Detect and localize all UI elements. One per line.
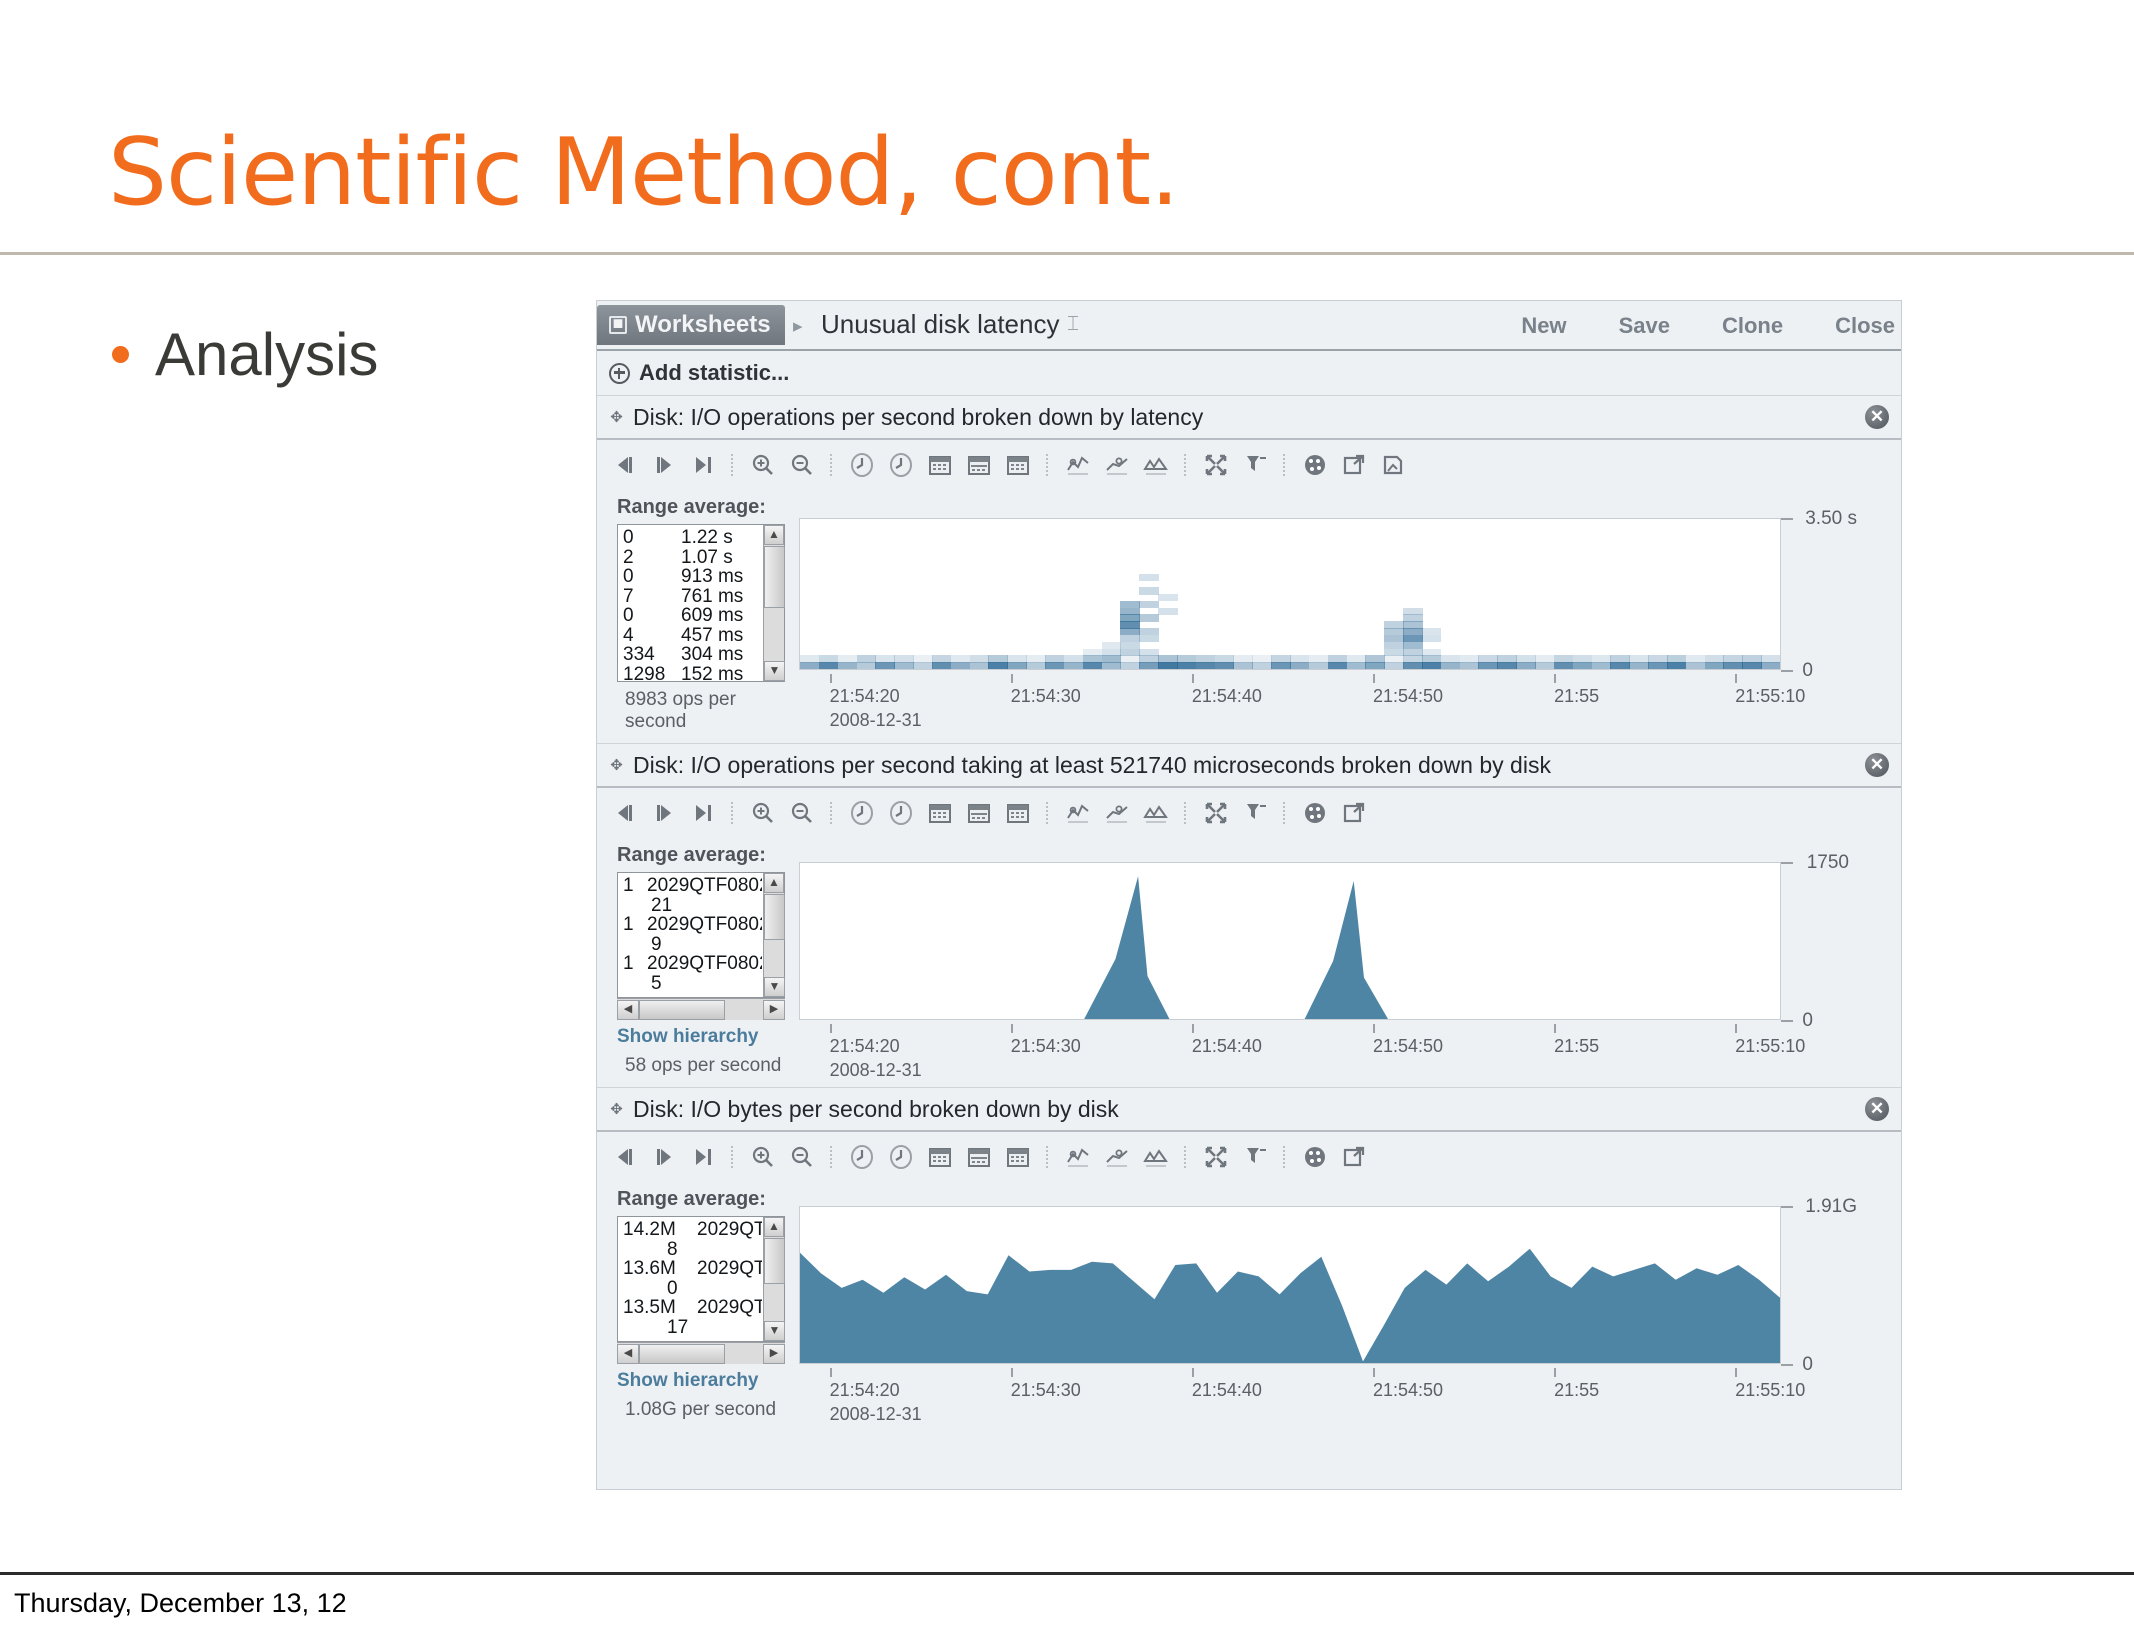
heatmap-cell [1761,655,1780,662]
vertical-scrollbar[interactable]: ▲ ▼ [763,873,784,997]
move-handle-icon[interactable]: ✥ [609,758,624,773]
area-plot[interactable] [799,862,1781,1020]
area-series [800,1207,1780,1363]
palette-icon[interactable] [1301,451,1329,479]
list-item: 01.22 s [623,528,762,548]
heatmap-cell [1460,655,1479,662]
scroll-thumb[interactable] [639,1344,725,1364]
toolbar-divider [731,1146,735,1168]
heatmap-cell [1403,662,1422,669]
x-tick-label: 21:54:50 [1373,686,1443,707]
x-tick [1011,1024,1013,1033]
legend-header: Range average: [617,844,787,867]
heatmap-cell [1139,655,1158,662]
clock-back-icon[interactable] [848,451,876,479]
heatmap-cell [1120,621,1139,628]
bullet-label: Analysis [155,320,378,389]
horizontal-scrollbar[interactable]: ◀ ▶ [617,998,785,1020]
x-tick [1373,674,1375,683]
list-item: 12029QTF0802QCX [623,915,762,935]
heatmap-cell [1384,662,1403,669]
heatmap-cell [1422,628,1441,635]
heatmap-cell [1177,662,1196,669]
heatmap-cell [1215,655,1234,662]
clock-forward-icon[interactable] [887,451,915,479]
heatmap-cell [1139,662,1158,669]
heatmap-cell [1120,608,1139,615]
vertical-scrollbar[interactable]: ▲ ▼ [763,1217,784,1341]
drill-down-icon[interactable] [1241,451,1269,479]
heatmap-cell [1478,662,1497,669]
heatmap-cell [1403,655,1422,662]
zoom-in-icon[interactable] [749,799,777,827]
zoom-out-icon[interactable] [788,451,816,479]
calendar-minute-icon[interactable] [926,451,954,479]
toolbar-divider [1283,454,1287,476]
y-tick-top [1781,1206,1793,1208]
toolbar-divider [830,454,834,476]
chart-area[interactable]: 3.50 s 0 21:54:2021:54:3021:54:4021:54:5… [787,496,1901,733]
scatter-chart-icon[interactable] [1103,1143,1131,1171]
scroll-up-icon[interactable]: ▲ [764,525,784,545]
calendar-day-icon[interactable] [1004,451,1032,479]
vertical-scrollbar[interactable]: ▲ ▼ [763,525,784,681]
heatmap-cell [894,662,913,669]
heatmap-cell [1139,587,1158,594]
palette-icon[interactable] [1301,1143,1329,1171]
heatmap-cell [970,662,989,669]
heatmap-cell [1629,655,1648,662]
x-tick [1011,1368,1013,1377]
scroll-thumb[interactable] [764,894,785,940]
heatmap-cell [1064,662,1083,669]
heatmap-cell [1120,628,1139,635]
x-tick [1192,1024,1194,1033]
step-back-icon[interactable] [611,1143,639,1171]
heatmap-cell [1365,655,1384,662]
spike-series [800,863,1780,1019]
bullet-item: Analysis [112,320,378,389]
fullscreen-icon[interactable] [1202,799,1230,827]
x-tick-label: 21:54:40 [1192,1380,1262,1401]
heatmap-cell [1535,662,1554,669]
calendar-hour-icon[interactable] [965,799,993,827]
list-item: 13.6M2029QTF08020 [623,1259,762,1279]
save-button[interactable]: Save [1619,313,1670,339]
snapshot-icon[interactable] [1379,451,1407,479]
toolbar-divider [830,802,834,824]
y-axis-max-label: 1.91G [1805,1196,1857,1218]
move-handle-icon[interactable]: ✥ [609,410,624,425]
calendar-day-icon[interactable] [1004,799,1032,827]
heatmap-cell [1215,662,1234,669]
heatmap-cell [1083,655,1102,662]
heatmap-cell [1384,649,1403,656]
zoom-in-icon[interactable] [749,451,777,479]
x-tick [1735,1368,1737,1377]
heatmap-cell [1422,662,1441,669]
footer-date: Thursday, December 13, 12 [14,1588,347,1619]
chart-area[interactable]: 1.91G 0 21:54:2021:54:3021:54:4021:54:50… [787,1188,1901,1421]
heatmap-cell [1026,655,1045,662]
x-tick-label: 21:54:40 [1192,1036,1262,1057]
area-chart-icon[interactable] [1142,451,1170,479]
heatmap-cell [932,662,951,669]
heatmap-cell [1290,662,1309,669]
heatmap-cell [857,655,876,662]
step-back-icon[interactable] [611,451,639,479]
heatmap-cell [970,655,989,662]
x-tick-label: 21:54:30 [1011,1036,1081,1057]
scroll-up-icon[interactable]: ▲ [764,873,784,893]
panel-close-icon[interactable]: ✕ [1865,753,1889,777]
heatmap-cell [1347,655,1366,662]
panel-body: Range average: 01.22 s 21.07 s 0913 ms 7… [597,490,1901,743]
list-item: 17 [623,1318,762,1338]
legend-list[interactable]: 12029QTF0802QCX 21 12029QTF0802QCX 9 120… [617,872,785,998]
heatmap-cell [1007,662,1026,669]
scatter-chart-icon[interactable] [1103,799,1131,827]
x-tick [1373,1024,1375,1033]
heatmap-cell [1384,635,1403,642]
statistic-panel: ✥ Disk: I/O operations per second taking… [597,743,1901,1087]
move-handle-icon[interactable]: ✥ [609,1102,624,1117]
calendar-minute-icon[interactable] [926,799,954,827]
heatmap-cell [857,662,876,669]
x-tick-label: 21:54:20 [830,1380,900,1401]
page-title: Scientific Method, cont. [108,118,1179,226]
toolbar-divider [1184,1146,1188,1168]
heatmap-cell [1648,655,1667,662]
heatmap-cell [1120,649,1139,656]
x-tick-label: 21:55 [1554,1380,1599,1401]
heatmap-cell [1177,655,1196,662]
scroll-right-icon[interactable]: ▶ [763,1344,785,1364]
heatmap-cell [1233,655,1252,662]
zoom-out-icon[interactable] [788,1143,816,1171]
heatmap-cell [1441,655,1460,662]
panel-header: ✥ Disk: I/O operations per second broken… [597,396,1901,440]
add-statistic-button[interactable]: Add statistic... [597,351,1901,395]
clock-forward-icon[interactable] [887,1143,915,1171]
heatmap-cell [1705,655,1724,662]
heatmap-cell [1120,642,1139,649]
legend-column: Range average: 14.2M2029QTF08020 8 13.6M… [597,1188,787,1421]
x-tick [1554,674,1556,683]
heatmap-cell [1478,655,1497,662]
title-divider [0,252,2134,255]
toolbar-divider [731,454,735,476]
new-button[interactable]: New [1521,313,1566,339]
scroll-thumb[interactable] [639,1000,725,1020]
heatmap-cell [1102,642,1121,649]
heatmap-cell [1592,655,1611,662]
drill-down-icon[interactable] [1241,799,1269,827]
y-axis-min-label: 0 [1802,1354,1813,1376]
panel-close-icon[interactable]: ✕ [1865,1097,1889,1121]
area-plot[interactable] [799,1206,1781,1364]
step-back-icon[interactable] [611,799,639,827]
calendar-minute-icon[interactable] [926,1143,954,1171]
heatmap-cell [1271,662,1290,669]
y-axis-max-label: 1750 [1807,852,1849,874]
toolbar-divider [830,1146,834,1168]
heatmap-cell [1271,655,1290,662]
list-item: 0 [623,1279,762,1299]
tab-worksheets-label: Worksheets [635,311,771,339]
heatmap-cell [1422,649,1441,656]
scroll-thumb[interactable] [764,1238,785,1284]
panel-title: Disk: I/O bytes per second broken down b… [633,1096,1119,1123]
scroll-down-icon[interactable]: ▼ [764,661,785,681]
close-button[interactable]: Close [1835,313,1895,339]
heatmap-cell [1045,655,1064,662]
scroll-right-icon[interactable]: ▶ [763,1000,785,1020]
legend-list[interactable]: 14.2M2029QTF08020 8 13.6M2029QTF08020 0 … [617,1216,785,1342]
heatmap-cell [1290,655,1309,662]
heatmap-cell [1365,662,1384,669]
list-item: 14.2M2029QTF08020 [623,1220,762,1240]
legend-header: Range average: [617,496,787,519]
heatmap-plot[interactable] [799,518,1781,670]
add-statistic-label: Add statistic... [639,360,789,386]
heatmap-cell [1139,649,1158,656]
x-tick [830,1368,832,1377]
heatmap-cell [1196,662,1215,669]
heatmap-cell [1120,662,1139,669]
y-tick-top [1781,862,1793,864]
heatmap-cell [1592,662,1611,669]
step-forward-icon[interactable] [650,1143,678,1171]
heatmap-cell [1403,642,1422,649]
area-chart-icon[interactable] [1142,1143,1170,1171]
scroll-thumb[interactable] [764,546,785,608]
heatmap-cell [800,655,819,662]
calendar-hour-icon[interactable] [965,1143,993,1171]
tab-worksheets[interactable]: ■ Worksheets [597,305,785,345]
line-chart-icon[interactable] [1064,1143,1092,1171]
heatmap-cell [1742,655,1761,662]
heatmap-cell [1309,655,1328,662]
heatmap-cell [1573,662,1592,669]
x-tick-label: 21:55:10 [1735,686,1805,707]
x-tick-label: 21:54:20 [830,686,900,707]
line-chart-icon[interactable] [1064,799,1092,827]
list-item: 0609 ms [623,606,762,626]
heatmap-cell [1723,655,1742,662]
step-forward-icon[interactable] [650,451,678,479]
clock-back-icon[interactable] [848,1143,876,1171]
worksheet-name[interactable]: Unusual disk latency [821,309,1059,340]
clone-button[interactable]: Clone [1722,313,1783,339]
heatmap-cell [1573,655,1592,662]
heatmap-cell [1120,635,1139,642]
heatmap-cell [1064,655,1083,662]
heatmap-cell [1497,655,1516,662]
heatmap-cell [838,655,857,662]
heatmap-cell [800,662,819,669]
x-axis-date: 2008-12-31 [830,710,922,731]
legend-list[interactable]: 01.22 s 21.07 s 0913 ms 7761 ms 0609 ms … [617,524,785,682]
scatter-chart-icon[interactable] [1103,451,1131,479]
list-item: 21 [623,896,762,916]
x-axis-date: 2008-12-31 [830,1404,922,1425]
scroll-down-icon[interactable]: ▼ [764,1321,785,1341]
heatmap-cell [1384,628,1403,635]
heatmap-cell [1610,655,1629,662]
y-axis-min-label: 0 [1802,660,1813,682]
list-item: 12029QTF0802QCX [623,876,762,896]
heatmap-cell [1120,655,1139,662]
heatmap-cell [1648,662,1667,669]
breadcrumb-separator-icon: ▸ [793,315,803,338]
panel-close-icon[interactable]: ✕ [1865,405,1889,429]
heatmap-cell [894,655,913,662]
zoom-in-icon[interactable] [749,1143,777,1171]
zoom-out-icon[interactable] [788,799,816,827]
heatmap-cell [1403,628,1422,635]
heatmap-cell [1403,649,1422,656]
area-chart-icon[interactable] [1142,799,1170,827]
x-tick-label: 21:54:50 [1373,1036,1443,1057]
header-actions: New Save Clone Close [1521,313,1895,339]
x-tick [1192,1368,1194,1377]
toolbar-divider [1046,454,1050,476]
heatmap-cell [1705,662,1724,669]
heatmap-cell [1083,662,1102,669]
jump-to-end-icon[interactable] [689,451,717,479]
calendar-day-icon[interactable] [1004,1143,1032,1171]
fullscreen-icon[interactable] [1202,451,1230,479]
heatmap-cell [1158,662,1177,669]
rate-label: 8983 ops per second [617,689,787,733]
slide: Scientific Method, cont. Analysis ■ Work… [0,0,2134,1572]
heatmap-cell [1120,601,1139,608]
x-tick-label: 21:54:50 [1373,1380,1443,1401]
panel-title: Disk: I/O operations per second taking a… [633,752,1551,779]
text-cursor-icon: ⌶ [1067,313,1079,336]
toolbar-divider [1046,1146,1050,1168]
heatmap-cell [1158,594,1177,601]
scroll-down-icon[interactable]: ▼ [764,977,785,997]
heatmap-cell [1686,662,1705,669]
legend-column: Range average: 01.22 s 21.07 s 0913 ms 7… [597,496,787,733]
line-chart-icon[interactable] [1064,451,1092,479]
y-tick-bottom [1781,1020,1793,1022]
heatmap-cell [1497,662,1516,669]
heatmap-cell [1667,655,1686,662]
analytics-window: ■ Worksheets ▸ Unusual disk latency ⌶ Ne… [596,300,1902,1490]
show-hierarchy-link[interactable]: Show hierarchy [617,1370,787,1392]
scroll-left-icon[interactable]: ◀ [617,1000,639,1020]
toolbar-divider [1184,454,1188,476]
step-forward-icon[interactable] [650,799,678,827]
heatmap-cell [988,662,1007,669]
calendar-hour-icon[interactable] [965,451,993,479]
x-tick-label: 21:55:10 [1735,1380,1805,1401]
list-item: 7761 ms [623,587,762,607]
scroll-up-icon[interactable]: ▲ [764,1217,784,1237]
panel-header: ✥ Disk: I/O bytes per second broken down… [597,1088,1901,1132]
heatmap-cell [1347,662,1366,669]
list-item: 0913 ms [623,567,762,587]
x-tick [830,1024,832,1033]
heatmap-cell [1196,655,1215,662]
drill-down-icon[interactable] [1241,1143,1269,1171]
heatmap-cell [1139,614,1158,621]
list-item: 334304 ms [623,645,762,665]
heatmap-cell [1403,621,1422,628]
heatmap-cell [1403,614,1422,621]
clock-forward-icon[interactable] [887,799,915,827]
heatmap-cell [1158,655,1177,662]
jump-to-end-icon[interactable] [689,1143,717,1171]
panel-toolbar [597,440,1901,490]
heatmap-cell [819,662,838,669]
heatmap-cell [1723,662,1742,669]
y-tick-bottom [1781,1364,1793,1366]
app-header: ■ Worksheets ▸ Unusual disk latency ⌶ Ne… [597,301,1901,351]
heatmap-cell [1422,635,1441,642]
list-item: 13.5M2029QTF08020 [623,1298,762,1318]
horizontal-scrollbar[interactable]: ◀ ▶ [617,1342,785,1364]
x-tick [1735,1024,1737,1033]
y-tick-bottom [1781,670,1793,672]
rate-label: 58 ops per second [617,1055,787,1077]
list-item: 8 [623,1240,762,1260]
heatmap-cell [1007,655,1026,662]
export-icon[interactable] [1340,451,1368,479]
toolbar-divider [731,802,735,824]
clock-back-icon[interactable] [848,799,876,827]
heatmap-cell [1384,655,1403,662]
heatmap-cell [1045,662,1064,669]
heatmap-cell [1441,662,1460,669]
jump-to-end-icon[interactable] [689,799,717,827]
list-item: 5 [623,974,762,994]
export-icon[interactable] [1340,1143,1368,1171]
heatmap-cell [913,662,932,669]
panel-title: Disk: I/O operations per second broken d… [633,404,1203,431]
y-tick-top [1781,518,1793,520]
heatmap-cell [1233,662,1252,669]
fullscreen-icon[interactable] [1202,1143,1230,1171]
heatmap-cell [1120,614,1139,621]
heatmap-cell [1742,662,1761,669]
statistic-panel: ✥ Disk: I/O operations per second broken… [597,395,1901,743]
heatmap-cell [1516,662,1535,669]
heatmap-cell [838,662,857,669]
show-hierarchy-link[interactable]: Show hierarchy [617,1026,787,1048]
heatmap-cell [1422,655,1441,662]
palette-icon[interactable] [1301,799,1329,827]
export-icon[interactable] [1340,799,1368,827]
scroll-left-icon[interactable]: ◀ [617,1344,639,1364]
heatmap-cell [1535,655,1554,662]
x-tick [1554,1024,1556,1033]
chart-area[interactable]: 1750 0 21:54:2021:54:3021:54:4021:54:502… [787,844,1901,1077]
list-item: 21.07 s [623,548,762,568]
heatmap-cell [1252,655,1271,662]
toolbar-divider [1184,802,1188,824]
x-tick [1011,674,1013,683]
list-item: 1298152 ms [623,665,762,682]
bullet-dot-icon [112,346,129,363]
heatmap-cell [1610,662,1629,669]
heatmap-cell [1629,662,1648,669]
x-axis-date: 2008-12-31 [830,1060,922,1081]
heatmap-cell [1761,662,1780,669]
